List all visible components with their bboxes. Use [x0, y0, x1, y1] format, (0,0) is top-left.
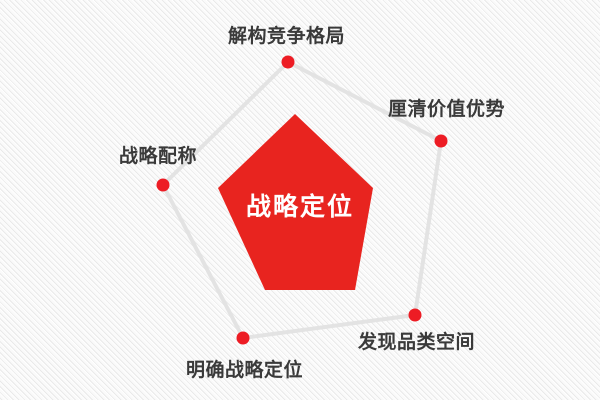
vertex-label-lower-right: 发现品类空间: [358, 333, 475, 352]
vertex-label-upper-right: 厘清价值优势: [388, 100, 505, 119]
inner-pentagon-shape: [218, 114, 373, 290]
vertex-label-left: 战略配称: [119, 147, 197, 166]
vertex-dot-top[interactable]: [282, 56, 295, 69]
diagram-canvas: 解构竞争格局 厘清价值优势 发现品类空间 明确战略定位 战略配称 战略定位: [0, 0, 600, 400]
vertex-dot-lower-right[interactable]: [409, 309, 422, 322]
vertex-dot-left[interactable]: [157, 179, 170, 192]
vertex-dot-bottom-left[interactable]: [237, 332, 250, 345]
pentagon-diagram-svg: [0, 0, 600, 400]
vertex-label-bottom-left: 明确战略定位: [186, 361, 303, 380]
vertex-label-top: 解构竞争格局: [228, 27, 345, 46]
vertex-dot-upper-right[interactable]: [435, 135, 448, 148]
